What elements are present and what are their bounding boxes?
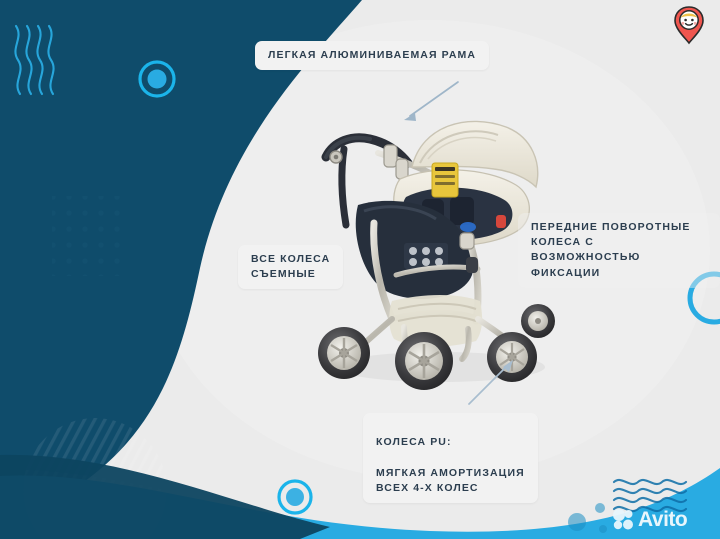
avito-dots-icon: [612, 508, 634, 530]
callout-lightweight-frame: ЛЕГКАЯ АЛЮМИНИВАЕМАЯ РАМА: [255, 41, 489, 70]
promo-image-canvas: ЛЕГКАЯ АЛЮМИНИВАЕМАЯ РАМА ВСЕ КОЛЕСА СЪЕ…: [0, 0, 720, 539]
callout-pu-heading: КОЛЕСА PU:: [376, 435, 525, 450]
callout-pu-body: МЯГКАЯ АМОРТИЗАЦИЯ ВСЕХ 4-Х КОЛЕС: [376, 467, 525, 494]
callout-front-swivel-wheels: ПЕРЕДНИЕ ПОВОРОТНЫЕ КОЛЕСА С ВОЗМОЖНОСТЬ…: [518, 213, 720, 288]
avito-wordmark: Avito: [638, 509, 687, 530]
baby-face-map-pin-icon: [672, 5, 706, 45]
callout-wheels-removable: ВСЕ КОЛЕСА СЪЕМНЫЕ: [238, 245, 343, 289]
wheel-front-center: [395, 332, 453, 390]
arrow-to-frame-icon: [396, 78, 462, 124]
wheel-rear-left: [318, 327, 370, 379]
avito-watermark: Avito: [612, 508, 687, 530]
callout-pu-wheels: КОЛЕСА PU: МЯГКАЯ АМОРТИЗАЦИЯ ВСЕХ 4-Х К…: [363, 413, 538, 503]
wheel-swivel-right: [521, 304, 555, 338]
arrow-to-wheels-icon: [463, 356, 519, 408]
